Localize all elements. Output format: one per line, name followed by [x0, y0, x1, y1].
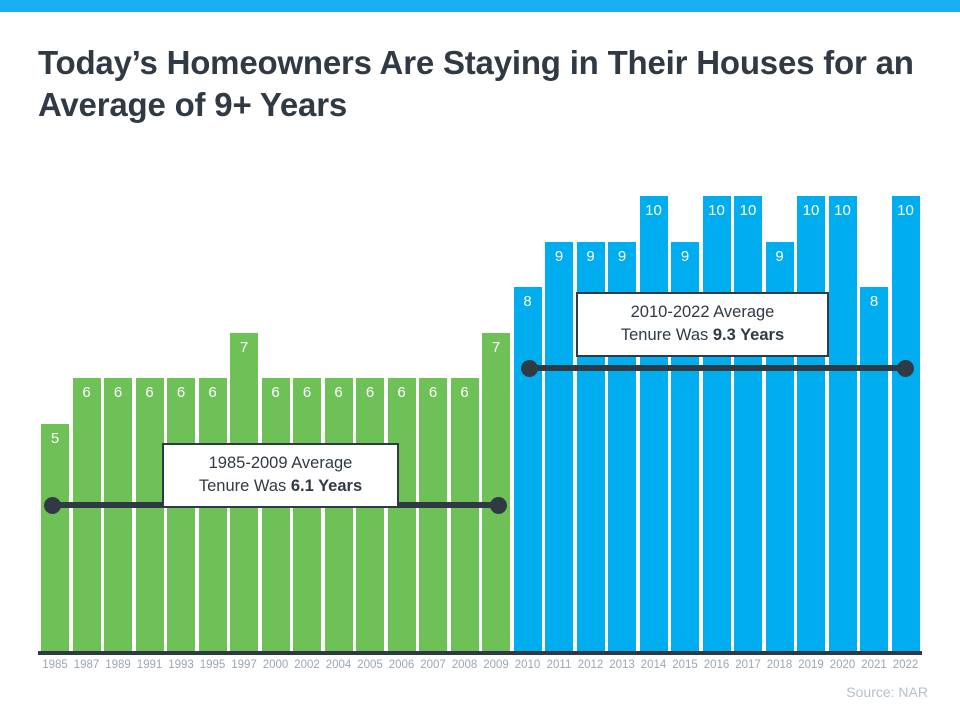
bar-value-label-2005: 6 — [356, 384, 384, 401]
x-tick-2000: 2000 — [259, 659, 293, 671]
x-tick-1985: 1985 — [38, 659, 72, 671]
x-tick-2016: 2016 — [700, 659, 734, 671]
bar-value-label-1991: 6 — [136, 384, 164, 401]
x-tick-1987: 1987 — [70, 659, 104, 671]
x-tick-2012: 2012 — [574, 659, 608, 671]
bar-1993: 6 — [167, 378, 195, 651]
x-tick-2021: 2021 — [857, 659, 891, 671]
green-average-end-dot — [490, 497, 507, 514]
bar-1991: 6 — [136, 378, 164, 651]
bar-value-label-1993: 6 — [167, 384, 195, 401]
green-average-callout: 1985-2009 Average Tenure Was 6.1 Years — [162, 443, 399, 508]
bar-1989: 6 — [104, 378, 132, 651]
x-tick-2010: 2010 — [511, 659, 545, 671]
source-note: Source: NAR — [846, 684, 928, 700]
x-tick-2009: 2009 — [479, 659, 513, 671]
bar-2016: 10 — [703, 196, 731, 651]
blue-average-start-dot — [521, 360, 538, 377]
blue-average-callout: 2010-2022 Average Tenure Was 9.3 Years — [576, 292, 829, 357]
bar-chart-plot-area: 5666667666666678999109101091010810 1985-… — [0, 0, 960, 720]
x-tick-2015: 2015 — [668, 659, 702, 671]
x-tick-2014: 2014 — [637, 659, 671, 671]
x-tick-2019: 2019 — [794, 659, 828, 671]
bar-2019: 10 — [797, 196, 825, 651]
blue-average-line — [536, 365, 906, 371]
x-tick-2002: 2002 — [290, 659, 324, 671]
bar-value-label-2013: 9 — [608, 248, 636, 265]
bar-value-label-2002: 6 — [293, 384, 321, 401]
green-callout-line1: 1985-2009 Average — [176, 452, 385, 475]
x-tick-2005: 2005 — [353, 659, 387, 671]
blue-callout-line2: Tenure Was 9.3 Years — [590, 324, 815, 347]
green-callout-line2: Tenure Was 6.1 Years — [176, 475, 385, 498]
blue-callout-prefix: Tenure Was — [621, 326, 713, 344]
x-tick-2017: 2017 — [731, 659, 765, 671]
bar-2002: 6 — [293, 378, 321, 651]
x-tick-2011: 2011 — [542, 659, 576, 671]
blue-average-end-dot — [897, 360, 914, 377]
bar-value-label-2007: 6 — [419, 384, 447, 401]
bar-1987: 6 — [73, 378, 101, 651]
x-tick-2006: 2006 — [385, 659, 419, 671]
blue-callout-line1: 2010-2022 Average — [590, 301, 815, 324]
bar-value-label-1989: 6 — [104, 384, 132, 401]
bar-2000: 6 — [262, 378, 290, 651]
x-tick-2020: 2020 — [826, 659, 860, 671]
bar-2022: 10 — [892, 196, 920, 651]
bar-1985: 5 — [41, 424, 69, 652]
bar-2007: 6 — [419, 378, 447, 651]
bar-value-label-2020: 10 — [829, 202, 857, 219]
bar-value-label-2019: 10 — [797, 202, 825, 219]
bar-value-label-1995: 6 — [199, 384, 227, 401]
x-tick-1997: 1997 — [227, 659, 261, 671]
bar-2009: 7 — [482, 333, 510, 652]
bar-value-label-1987: 6 — [73, 384, 101, 401]
bar-value-label-2014: 10 — [640, 202, 668, 219]
x-tick-2008: 2008 — [448, 659, 482, 671]
x-tick-1995: 1995 — [196, 659, 230, 671]
bar-2005: 6 — [356, 378, 384, 651]
x-tick-2007: 2007 — [416, 659, 450, 671]
bar-1995: 6 — [199, 378, 227, 651]
bar-2010: 8 — [514, 287, 542, 651]
x-tick-2022: 2022 — [889, 659, 923, 671]
bar-value-label-2012: 9 — [577, 248, 605, 265]
bar-value-label-2017: 10 — [734, 202, 762, 219]
bar-value-label-2010: 8 — [514, 293, 542, 310]
bar-value-label-2009: 7 — [482, 339, 510, 356]
bar-value-label-2006: 6 — [388, 384, 416, 401]
bar-2014: 10 — [640, 196, 668, 651]
bar-2008: 6 — [451, 378, 479, 651]
bar-2017: 10 — [734, 196, 762, 651]
bar-2020: 10 — [829, 196, 857, 651]
bar-value-label-2000: 6 — [262, 384, 290, 401]
x-axis-line — [38, 651, 922, 655]
bar-value-label-2004: 6 — [325, 384, 353, 401]
x-tick-2004: 2004 — [322, 659, 356, 671]
x-tick-2013: 2013 — [605, 659, 639, 671]
bar-value-label-2021: 8 — [860, 293, 888, 310]
bar-value-label-2022: 10 — [892, 202, 920, 219]
bar-2006: 6 — [388, 378, 416, 651]
bar-value-label-2011: 9 — [545, 248, 573, 265]
green-callout-value: 6.1 Years — [291, 477, 362, 495]
green-callout-prefix: Tenure Was — [199, 477, 291, 495]
bar-value-label-2016: 10 — [703, 202, 731, 219]
bar-2004: 6 — [325, 378, 353, 651]
x-tick-2018: 2018 — [763, 659, 797, 671]
bar-2021: 8 — [860, 287, 888, 651]
x-tick-1993: 1993 — [164, 659, 198, 671]
bar-value-label-2015: 9 — [671, 248, 699, 265]
bar-value-label-2018: 9 — [766, 248, 794, 265]
x-tick-1991: 1991 — [133, 659, 167, 671]
bar-value-label-1985: 5 — [41, 430, 69, 447]
bar-2011: 9 — [545, 242, 573, 652]
blue-callout-value: 9.3 Years — [713, 326, 784, 344]
green-average-start-dot — [44, 497, 61, 514]
bar-value-label-1997: 7 — [230, 339, 258, 356]
x-tick-1989: 1989 — [101, 659, 135, 671]
bar-value-label-2008: 6 — [451, 384, 479, 401]
